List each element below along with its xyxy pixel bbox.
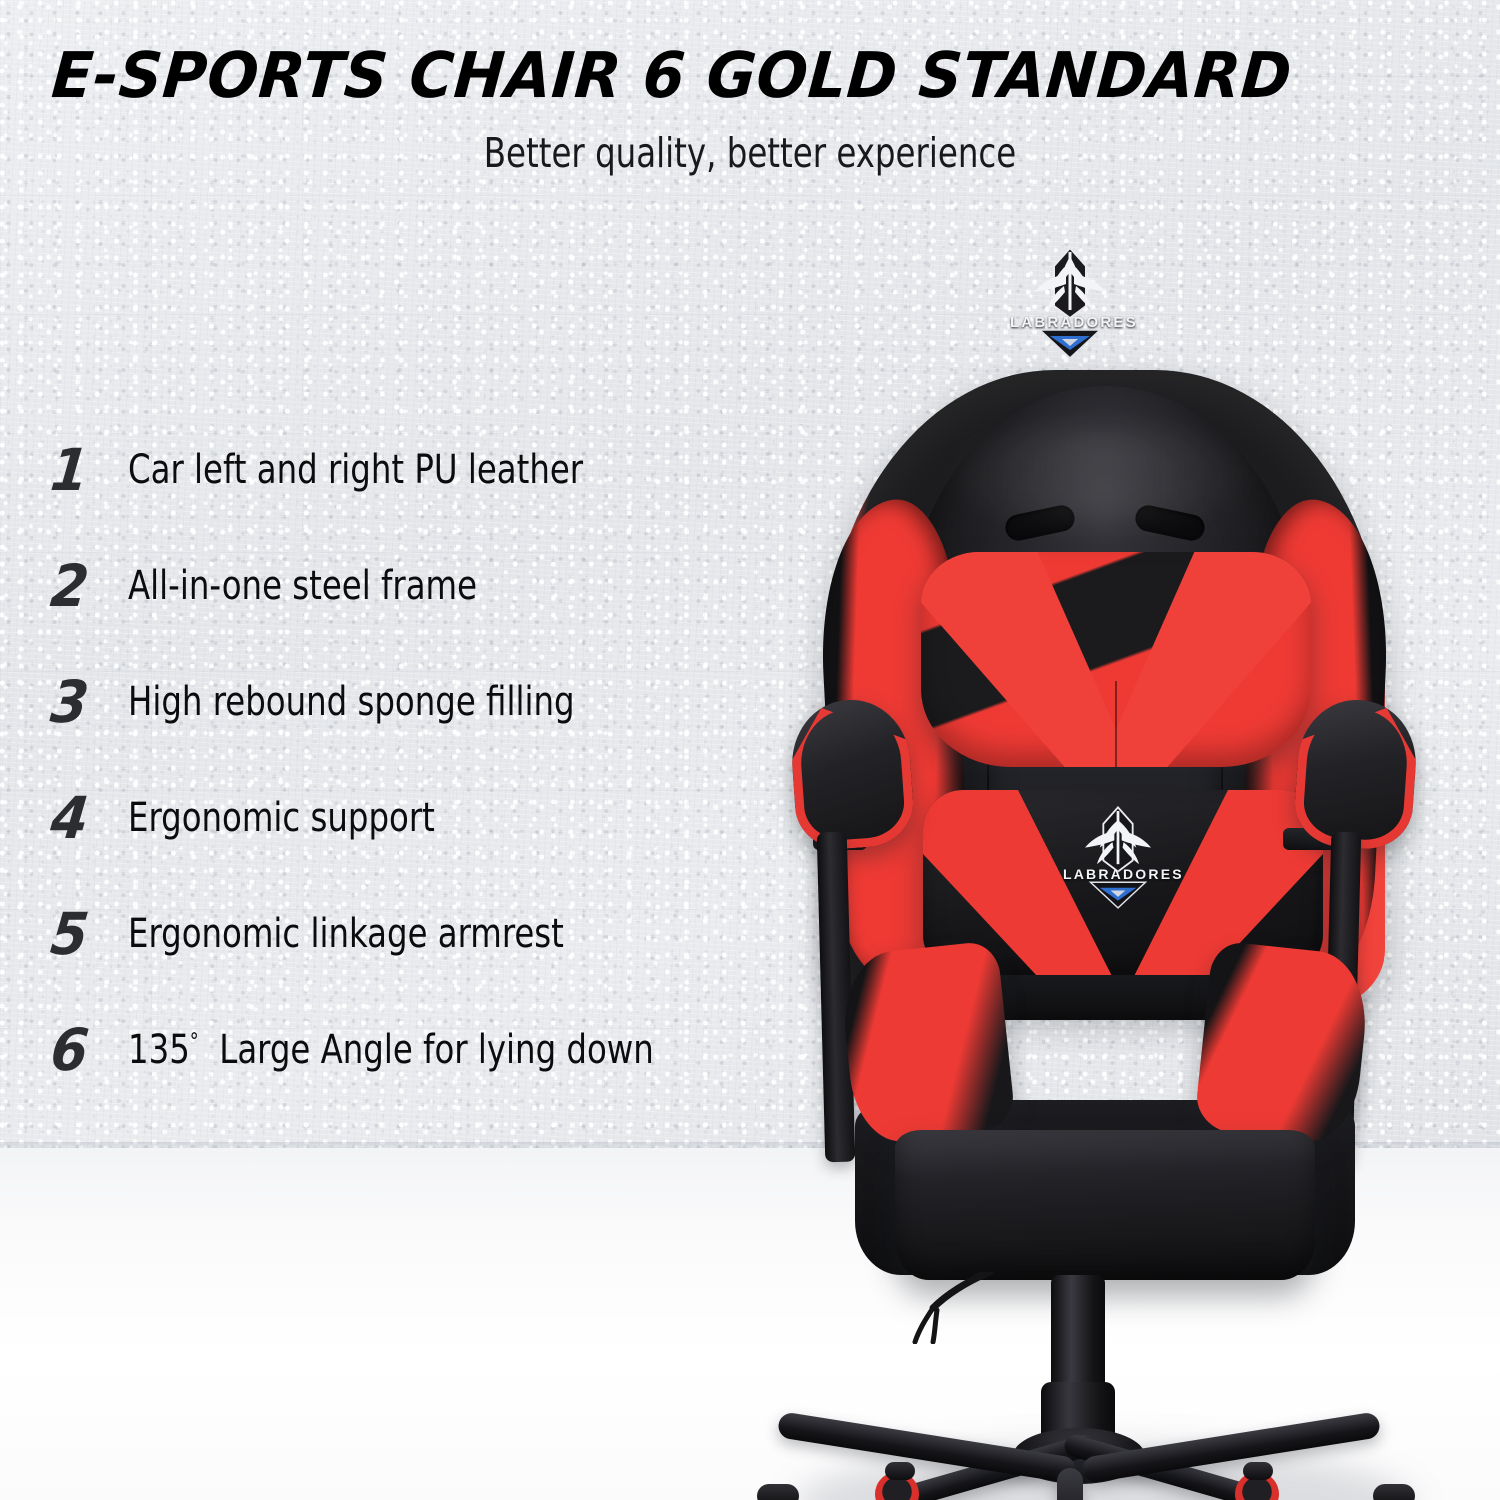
feature-label-3: High rebound sponge filling bbox=[128, 681, 575, 723]
feature-label-2: All-in-one steel frame bbox=[128, 565, 477, 607]
page-subtitle: Better quality, better experience bbox=[90, 133, 1410, 174]
feature-item-6: 6 135° Large Angle for lying down bbox=[52, 992, 852, 1108]
base-leg-front bbox=[1057, 1468, 1083, 1500]
caster-cap-right bbox=[1373, 1484, 1415, 1500]
caster-cap-left bbox=[757, 1484, 799, 1500]
infographic-canvas: E-SPORTS CHAIR 6 GOLD STANDARD Better qu… bbox=[0, 0, 1500, 1500]
tilt-adjust-lever[interactable] bbox=[907, 1272, 997, 1344]
feature-label-4: Ergonomic support bbox=[128, 797, 435, 839]
feature-list: 1 Car left and right PU leather 2 All-in… bbox=[52, 412, 852, 1108]
feature-item-4: 4 Ergonomic support bbox=[52, 760, 852, 876]
seat-left-bolster bbox=[838, 940, 1017, 1146]
pillow-red-chevron-right bbox=[1091, 552, 1311, 767]
gaming-chair-product-image: LABRADORES bbox=[735, 200, 1475, 1500]
gas-lift-cylinder-upper bbox=[1051, 1275, 1105, 1395]
feature-label-6: 135° Large Angle for lying down bbox=[128, 1029, 654, 1071]
feature-label-5: Ergonomic linkage armrest bbox=[128, 913, 564, 955]
feature-item-2: 2 All-in-one steel frame bbox=[52, 528, 852, 644]
feature-number-6: 6 bbox=[48, 1021, 132, 1079]
feature-item-5: 5 Ergonomic linkage armrest bbox=[52, 876, 852, 992]
caster-cap-rear-right bbox=[1243, 1462, 1273, 1480]
feature-item-1: 1 Car left and right PU leather bbox=[52, 412, 852, 528]
seat-right-bolster bbox=[1194, 940, 1373, 1146]
seat-cushion bbox=[895, 1130, 1315, 1280]
pillow-center-seam bbox=[1115, 681, 1117, 767]
caster-cap-rear-left bbox=[885, 1462, 915, 1480]
headrest-neck-pillow bbox=[921, 552, 1311, 767]
crest-blue-banner-icon bbox=[1010, 328, 1130, 362]
lumbar-logo-emblem: LABRADORES bbox=[1063, 800, 1173, 910]
lever-icon bbox=[907, 1272, 997, 1344]
degree-symbol-icon: ° bbox=[190, 1030, 199, 1055]
feature-number-5: 5 bbox=[48, 905, 132, 963]
headrest-logo-emblem: LABRADORES bbox=[1010, 240, 1130, 360]
backrest-highlight bbox=[935, 430, 1265, 520]
feature-item-3: 3 High rebound sponge filling bbox=[52, 644, 852, 760]
feature-number-3: 3 bbox=[48, 673, 132, 731]
feature-number-2: 2 bbox=[48, 557, 132, 615]
feature-angle-label bbox=[199, 1027, 220, 1073]
feature-number-1: 1 bbox=[48, 441, 132, 499]
feature-label-6-text: Large Angle for lying down bbox=[219, 1027, 654, 1073]
page-title: E-SPORTS CHAIR 6 GOLD STANDARD bbox=[50, 44, 1500, 107]
crest-blue-banner-icon-lumbar bbox=[1063, 880, 1173, 912]
feature-label-1: Car left and right PU leather bbox=[128, 449, 583, 491]
pillow-red-chevron-left bbox=[921, 552, 1141, 767]
feature-angle-value: 135 bbox=[128, 1027, 190, 1073]
feature-number-4: 4 bbox=[48, 789, 132, 847]
